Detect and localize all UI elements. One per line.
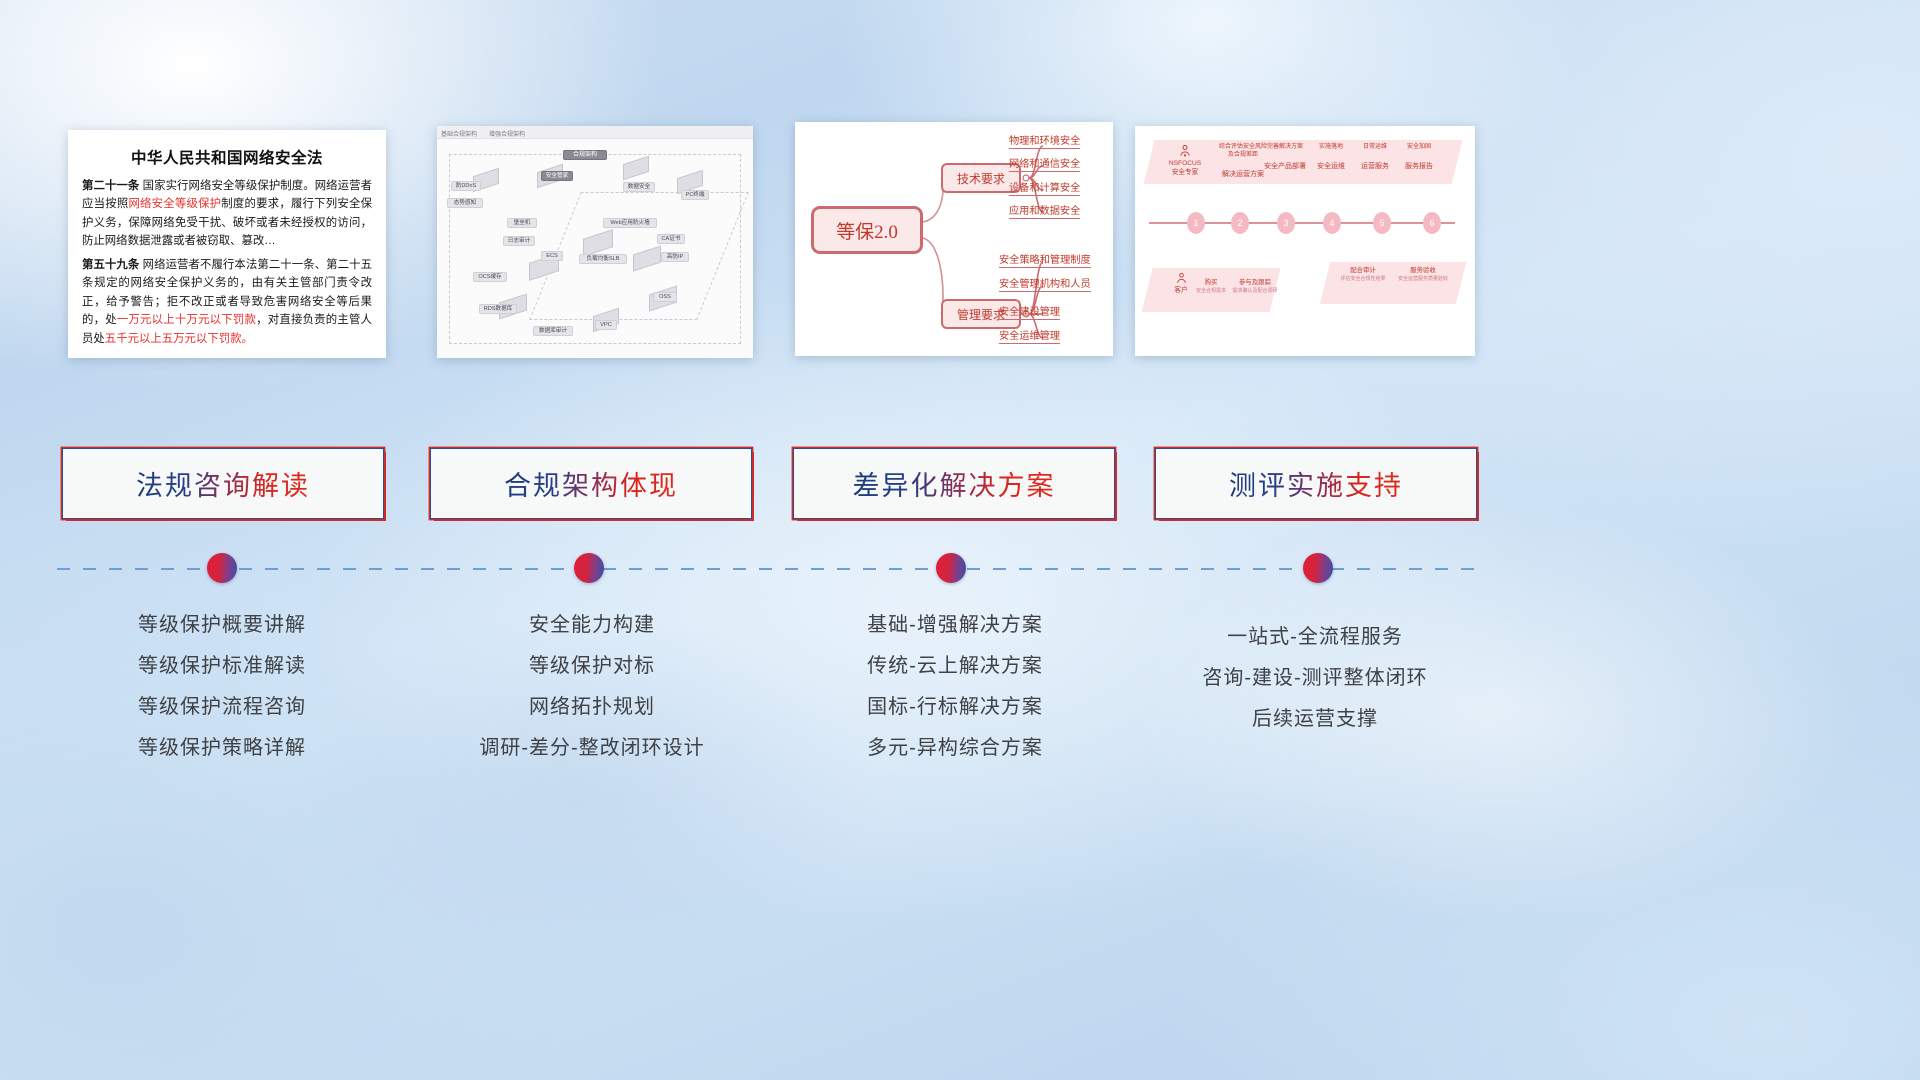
slide-canvas: 中华人民共和国网络安全法 第二十一条 国家实行网络安全等级保护制度。网络运营者应…: [0, 0, 1920, 1080]
mindmap-leaf-tech-3: 设备和计算安全: [1009, 179, 1080, 196]
list-item: 等级保护标准解读: [42, 646, 402, 687]
law-article-label-1: 第二十一条: [82, 180, 139, 192]
diagram-node-logaudit: 日志审计: [503, 236, 535, 246]
list-compliance-architecture: 安全能力构建 等级保护对标 网络拓扑规划 调研-差分-整改闭环设计: [412, 605, 772, 769]
list-item: 等级保护对标: [412, 646, 772, 687]
audit-item-1-sub: 评估安全合规性结果: [1335, 275, 1391, 284]
customer-item-2-sub: 需求确认及配合调研: [1231, 287, 1279, 296]
expert-role: 安全专家: [1157, 168, 1213, 177]
service-step-1-label: 解决运营方案: [1217, 171, 1269, 179]
diagram-node-ecs: ECS: [541, 251, 563, 261]
diagram-node-datasec: 数据安全: [623, 182, 655, 192]
timeline-dot-4: [1303, 553, 1333, 583]
mindmap-root-node: 等保2.0: [811, 206, 923, 254]
list-item: 等级保护流程咨询: [42, 687, 402, 728]
banner-label-4: 测评实施支持: [1229, 464, 1403, 503]
mindmap-card: 等保2.0 技术要求 管理要求 物理和环境安全 网络和通信安全 设备和计算安全 …: [795, 122, 1113, 356]
list-assessment-support: 一站式-全流程服务 咨询-建设-测评整体闭环 后续运营支撑: [1135, 617, 1495, 740]
service-step-4-caption: 日常运维: [1363, 144, 1387, 150]
audit-item-2-label: 服务验收: [1410, 267, 1436, 274]
service-number-4: 4: [1323, 212, 1341, 234]
diagram-node-ocs: OCS缓存: [473, 272, 507, 282]
banner-compliance-architecture[interactable]: 合规架构体现: [430, 448, 752, 519]
list-item: 传统-云上解决方案: [775, 646, 1135, 687]
mindmap-leaf-tech-4: 应用和数据安全: [1009, 202, 1080, 219]
list-item: 等级保护概要讲解: [42, 605, 402, 646]
law-run-1-1: 网络安全等级保护: [128, 198, 221, 210]
diagram-node-oss: OSS: [653, 292, 677, 302]
service-step-5: 安全加固 服务报告: [1393, 143, 1445, 171]
service-step-2-caption: 完善解决方案: [1267, 144, 1303, 150]
expert-brand: NSFOCUS: [1157, 159, 1213, 168]
service-number-6: 6: [1423, 212, 1441, 234]
banner-label-2: 合规架构体现: [504, 464, 678, 503]
diagram-node-ca: CA证书: [657, 234, 685, 244]
law-paragraph-2: 第五十九条 网络运营者不履行本法第二十一条、第二十五条规定的网络安全保护义务的，…: [82, 256, 372, 348]
list-item: 国标-行标解决方案: [775, 687, 1135, 728]
list-item: 咨询-建设-测评整体闭环: [1135, 658, 1495, 699]
diagram-node-slb: 负载均衡SLB: [579, 254, 627, 264]
list-item: 安全能力构建: [412, 605, 772, 646]
diagram-node-dbaudit: 数据库审计: [533, 326, 573, 336]
banner-regulation-consulting[interactable]: 法规咨询解读: [62, 448, 384, 519]
law-article-label-2: 第五十九条: [82, 259, 139, 271]
diagram-tabbar: 基础合规架构 增强合规架构: [437, 126, 753, 139]
diagram-tab-basic: 基础合规架构: [441, 129, 477, 138]
mindmap-leaf-mgmt-4: 安全运维管理: [999, 327, 1060, 344]
diagram-tab-enhanced: 增强合规架构: [489, 129, 525, 138]
list-item: 等级保护策略详解: [42, 728, 402, 769]
diagram-node-antiddos: 高防IP: [661, 252, 689, 262]
audit-item-1-label: 配合审计: [1350, 267, 1376, 274]
mindmap-leaf-mgmt-3: 安全建设管理: [999, 303, 1060, 320]
customer-person-icon: [1175, 272, 1188, 285]
timeline-dot-2: [574, 553, 604, 583]
banner-label-3: 差异化解决方案: [853, 464, 1056, 503]
customer-item-1-label: 购买: [1205, 279, 1218, 286]
diagram-node-ddos: 防DDoS: [451, 181, 481, 191]
banner-differentiated-solution[interactable]: 差异化解决方案: [793, 448, 1115, 519]
timeline-dot-3: [936, 553, 966, 583]
law-run-2-1: 一万元以上十万元以下罚款: [117, 314, 256, 326]
mindmap: 等保2.0 技术要求 管理要求 物理和环境安全 网络和通信安全 设备和计算安全 …: [795, 122, 1113, 356]
audit-item-1: 配合审计 评估安全合规性结果: [1335, 266, 1391, 284]
diagram-node-pc: PC终端: [681, 190, 709, 200]
banner-assessment-support[interactable]: 测评实施支持: [1155, 448, 1477, 519]
service-number-5: 5: [1373, 212, 1391, 234]
list-item: 调研-差分-整改闭环设计: [412, 728, 772, 769]
law-card-title: 中华人民共和国网络安全法: [82, 146, 372, 168]
diagram-node-waf: Web应用防火墙: [603, 218, 657, 228]
list-item: 后续运营支撑: [1135, 699, 1495, 740]
diagram-node-housekeeper: 安全管家: [541, 171, 573, 181]
mindmap-leaf-mgmt-2: 安全管理机构和人员: [999, 275, 1091, 292]
service-number-1: 1: [1187, 212, 1205, 234]
customer-item-2: 参与及跟踪 需求确认及配合调研: [1231, 278, 1279, 296]
service-flow-diagram: NSFOCUS 安全专家 综合评估安全风险及合规差距 解决运营方案 完善解决方案…: [1135, 126, 1475, 356]
service-step-2: 完善解决方案 安全产品部署: [1259, 143, 1311, 171]
customer-item-2-label: 参与及跟踪: [1239, 279, 1271, 286]
diagram-node-rds: RDS数据库: [479, 304, 517, 314]
expert-person-icon: [1178, 144, 1192, 158]
service-flow-card: NSFOCUS 安全专家 综合评估安全风险及合规差距 解决运营方案 完善解决方案…: [1135, 126, 1475, 356]
audit-item-2-sub: 安全运营服务质量验收: [1393, 275, 1453, 284]
law-text-card: 中华人民共和国网络安全法 第二十一条 国家实行网络安全等级保护制度。网络运营者应…: [68, 130, 386, 358]
service-step-5-label: 服务报告: [1393, 163, 1445, 171]
list-item: 多元-异构综合方案: [775, 728, 1135, 769]
law-paragraph-1: 第二十一条 国家实行网络安全等级保护制度。网络运营者应当按照网络安全等级保护制度…: [82, 177, 372, 251]
list-differentiated-solution: 基础-增强解决方案 传统-云上解决方案 国标-行标解决方案 多元-异构综合方案: [775, 605, 1135, 769]
banner-label-1: 法规咨询解读: [136, 464, 310, 503]
service-number-2: 2: [1231, 212, 1249, 234]
service-number-3: 3: [1277, 212, 1295, 234]
mindmap-leaf-tech-1: 物理和环境安全: [1009, 132, 1080, 149]
service-step-2-label: 安全产品部署: [1259, 163, 1311, 171]
list-regulation-consulting: 等级保护概要讲解 等级保护标准解读 等级保护流程咨询 等级保护策略详解: [42, 605, 402, 769]
customer-item-1-sub: 安全合规需求: [1189, 287, 1233, 296]
diagram-node-situation: 态势感知: [447, 198, 483, 208]
audit-item-2: 服务验收 安全运营服务质量验收: [1393, 266, 1453, 284]
diagram-node-vpc: VPC: [595, 320, 617, 330]
diagram-title-node: 合规架构: [563, 150, 607, 160]
architecture-diagram: 基础合规架构 增强合规架构 合规架构 防DDoS 态势感知 安全管家 堡垒机 日…: [437, 126, 753, 358]
architecture-diagram-card: 基础合规架构 增强合规架构 合规架构 防DDoS 态势感知 安全管家 堡垒机 日…: [437, 126, 753, 358]
diagram-node-bastion: 堡垒机: [507, 218, 537, 228]
expert-badge: NSFOCUS 安全专家: [1157, 144, 1213, 177]
mindmap-leaf-tech-2: 网络和通信安全: [1009, 155, 1080, 172]
mindmap-leaf-mgmt-1: 安全策略和管理制度: [999, 251, 1091, 268]
law-run-2-3: 五千元以上五万元以下罚款。: [105, 333, 253, 345]
timeline-dashed-line: [57, 568, 1482, 570]
list-item: 基础-增强解决方案: [775, 605, 1135, 646]
timeline-dot-1: [207, 553, 237, 583]
list-item: 网络拓扑规划: [412, 687, 772, 728]
list-item: 一站式-全流程服务: [1135, 617, 1495, 658]
customer-item-1: 购买 安全合规需求: [1189, 278, 1233, 296]
service-step-5-caption: 安全加固: [1407, 144, 1431, 150]
service-step-3-caption: 实施落地: [1319, 144, 1343, 150]
